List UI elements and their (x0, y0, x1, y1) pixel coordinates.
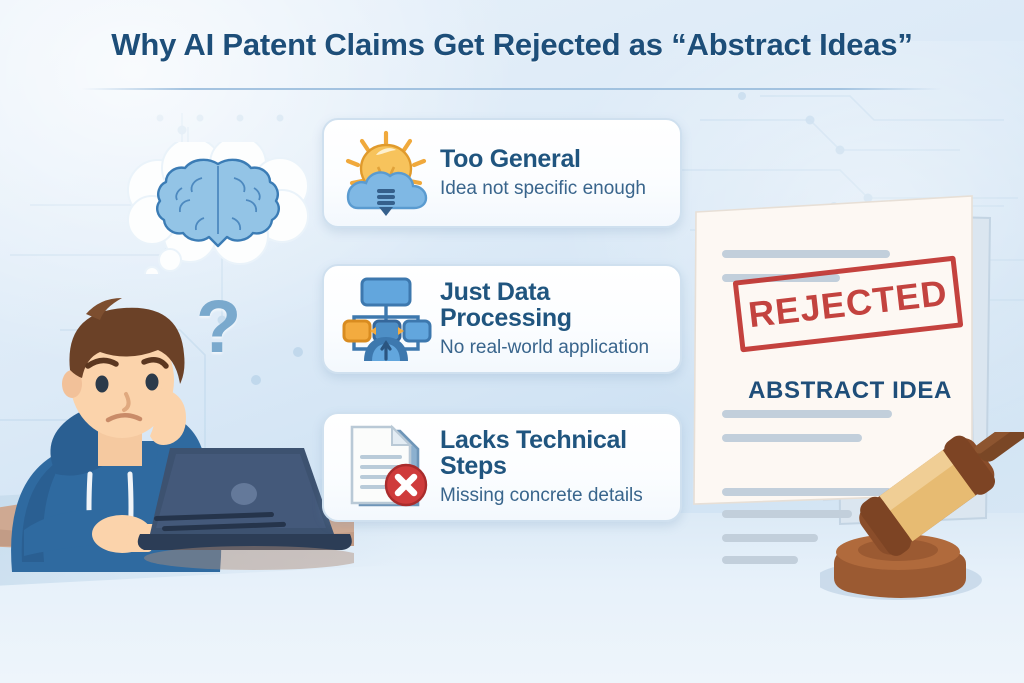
card-subtitle: No real-world application (440, 338, 666, 359)
card-subtitle: Idea not specific enough (440, 179, 646, 200)
data-flowchart-icon (338, 273, 434, 365)
brain-icon (157, 160, 279, 246)
reason-card-lacks-technical-steps[interactable]: Lacks Technical Steps Missing concrete d… (322, 412, 682, 522)
infographic-canvas: Why AI Patent Claims Get Rejected as “Ab… (0, 0, 1024, 683)
card-text: Just Data Processing No real-world appli… (440, 279, 666, 359)
card-text: Lacks Technical Steps Missing concrete d… (440, 427, 666, 507)
page-title: Why AI Patent Claims Get Rejected as “Ab… (0, 27, 1024, 63)
card-title: Too General (440, 146, 646, 172)
document-label: ABSTRACT IDEA (700, 377, 1000, 405)
card-text: Too General Idea not specific enough (440, 146, 646, 200)
document-error-icon (338, 421, 434, 513)
person-at-laptop-illustration (0, 262, 354, 582)
card-subtitle: Missing concrete details (440, 486, 666, 507)
reason-card-too-general[interactable]: Too General Idea not specific enough (322, 118, 682, 228)
card-title: Lacks Technical Steps (440, 427, 666, 480)
judge-gavel-icon (820, 432, 1024, 622)
lightbulb-cloud-icon (338, 127, 434, 219)
reason-card-just-data-processing[interactable]: Just Data Processing No real-world appli… (322, 264, 682, 374)
title-divider (82, 88, 942, 90)
card-title: Just Data Processing (440, 279, 666, 332)
thought-bubble (112, 142, 324, 274)
